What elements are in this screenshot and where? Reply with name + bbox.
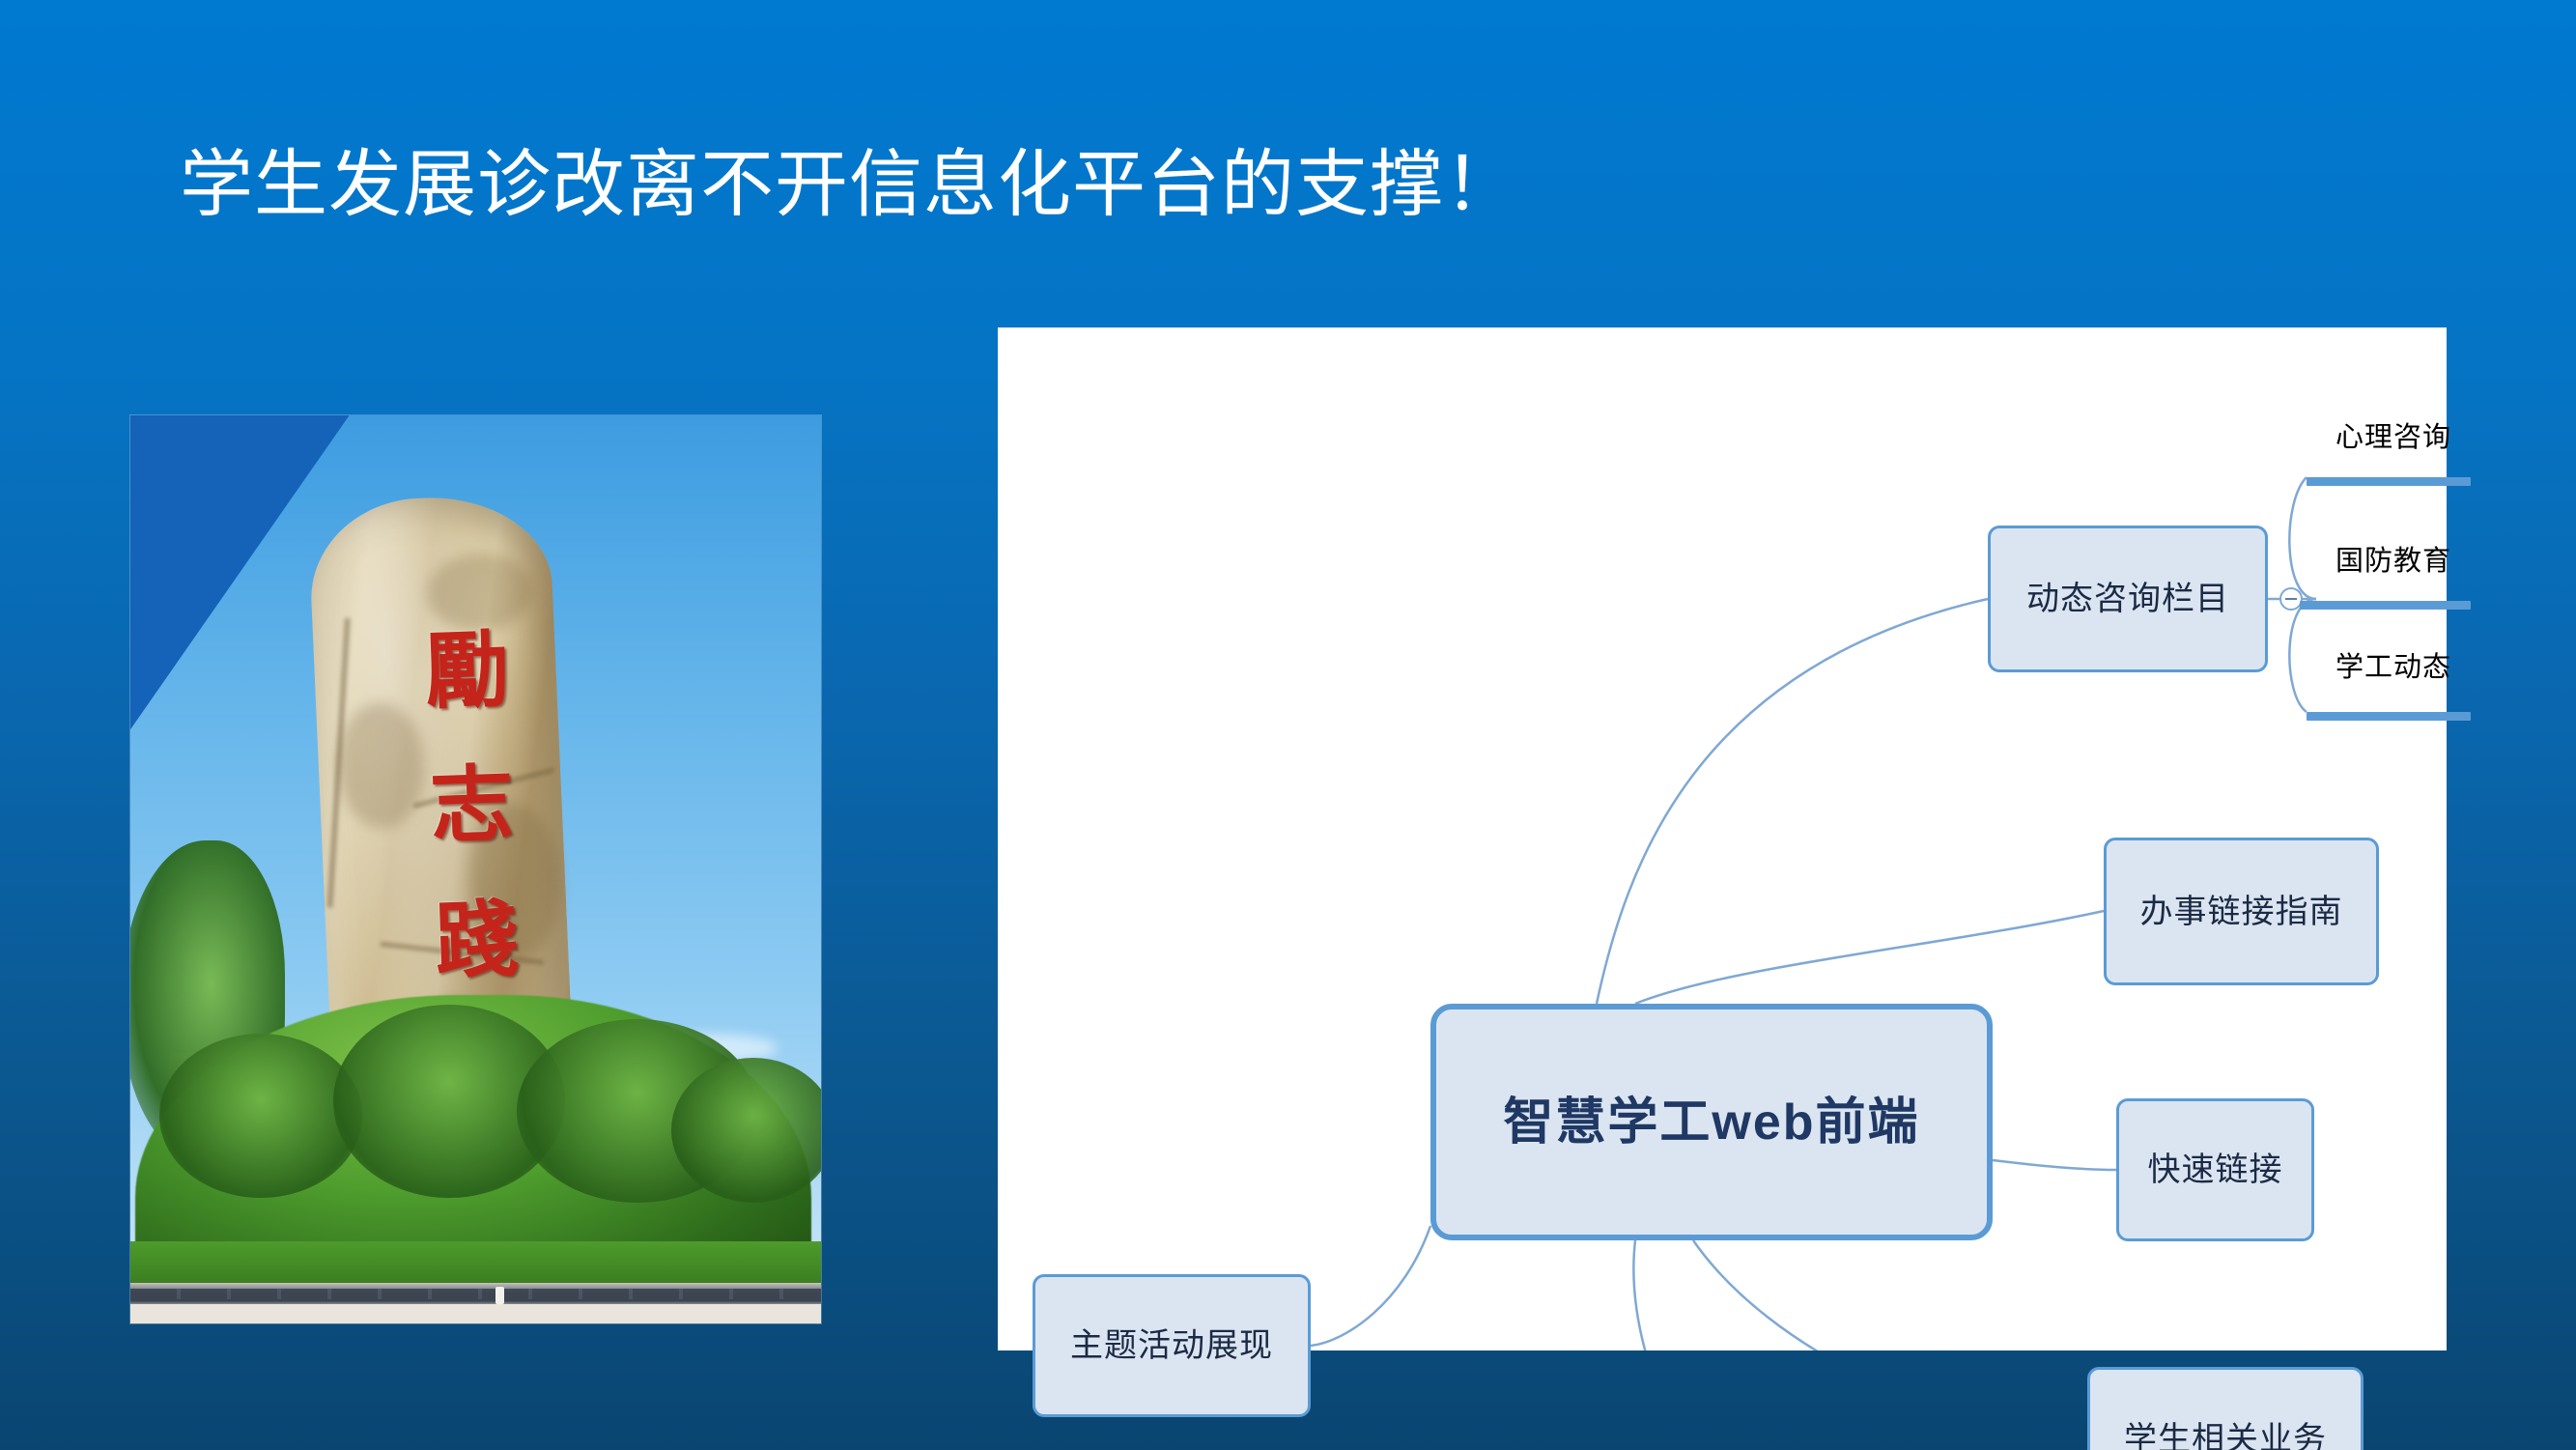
mindmap-node-banshi[interactable]: 办事链接指南 bbox=[2104, 838, 2379, 985]
connector-subfan-xuegd bbox=[2289, 599, 2316, 712]
connector-center-to-zhuti bbox=[1311, 1226, 1430, 1346]
connector-center-to-kuaisu bbox=[1993, 1160, 2116, 1170]
carved-char: 勵 bbox=[407, 602, 527, 740]
connector-center-to-xuesheng bbox=[1693, 1240, 2087, 1350]
mindmap-center-node[interactable]: 智慧学工web前端 bbox=[1430, 1004, 1993, 1240]
slide-root: 学生发展诊改离不开信息化平台的支撑！ 勵 志 踐 行 bbox=[0, 0, 2576, 1450]
mindmap-subnode-xuegd[interactable]: 学工动态 bbox=[2335, 654, 2451, 682]
mindmap-node-kuaisu[interactable]: 快速链接 bbox=[2116, 1098, 2314, 1241]
mindmap-subnode-underline bbox=[2300, 601, 2471, 610]
mindmap-node-label: 动态咨询栏目 bbox=[2026, 583, 2229, 615]
grass-strip bbox=[130, 1241, 821, 1286]
connector-center-to-xuegong bbox=[1633, 1240, 1993, 1350]
mindmap-node-xuesheng[interactable]: 学生相关业务 bbox=[2087, 1367, 2364, 1450]
carved-char: 踐 bbox=[416, 871, 537, 1009]
pavement-marker bbox=[495, 1287, 504, 1304]
mindmap-node-zhuti[interactable]: 主题活动展现 bbox=[1033, 1274, 1311, 1417]
campus-stone-monument-photo: 勵 志 踐 行 bbox=[130, 415, 821, 1323]
plaza-ground bbox=[130, 1304, 821, 1323]
mindmap-node-label: 主题活动展现 bbox=[1070, 1329, 1273, 1362]
mindmap-subnode-xinli[interactable]: 心理咨询 bbox=[2335, 424, 2451, 452]
carved-char: 志 bbox=[411, 736, 532, 874]
mindmap-subnode-underline bbox=[2307, 712, 2471, 721]
connector-subfan-xinli bbox=[2289, 477, 2316, 599]
slide-title: 学生发展诊改离不开信息化平台的支撑！ bbox=[180, 143, 1518, 228]
mindmap-subnode-underline bbox=[2307, 477, 2471, 486]
connector-center-to-banshi bbox=[1635, 911, 2104, 1004]
mindmap-node-label: 办事链接指南 bbox=[2140, 896, 2343, 928]
pavement-tiles bbox=[130, 1289, 821, 1299]
mindmap-node-dongtai[interactable]: 动态咨询栏目 bbox=[1988, 526, 2268, 672]
mindmap-center-label: 智慧学工web前端 bbox=[1503, 1097, 1919, 1148]
leaf-spray bbox=[159, 1034, 362, 1198]
mindmap-subnode-guofang[interactable]: 国防教育 bbox=[2335, 548, 2451, 576]
mindmap-node-label: 学生相关业务 bbox=[2124, 1423, 2327, 1450]
mindmap-panel: 智慧学工web前端 动态咨询栏目 办事链接指南 快速链接 学生相关业务 学工相关… bbox=[998, 327, 2447, 1350]
mindmap-node-label: 快速链接 bbox=[2148, 1153, 2283, 1186]
